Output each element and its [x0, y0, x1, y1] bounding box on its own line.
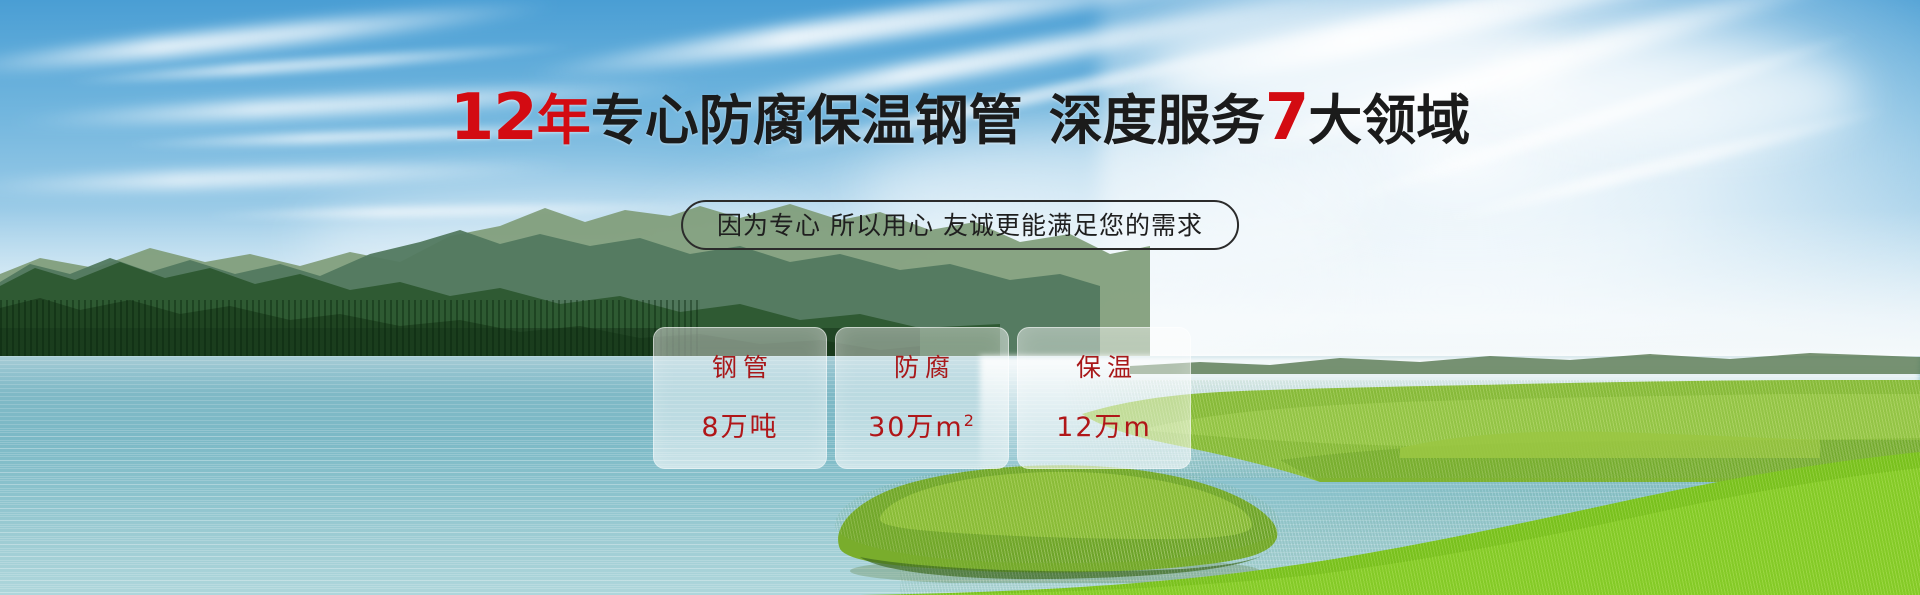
stat-card-value-superscript: 2 — [964, 411, 976, 430]
stat-card-label: 保温 — [1070, 355, 1138, 380]
stat-card-value-text: 12万m — [1056, 412, 1152, 443]
stat-card-value: 8万吨 — [701, 414, 778, 441]
stat-card-label: 防腐 — [888, 355, 956, 380]
stat-card-group: 钢管 8万吨 防腐 30万m2 保温 12万m — [653, 327, 1191, 469]
headline-sectors-number: 7 — [1265, 81, 1309, 155]
headline-focus-text: 专心防腐保温钢管 — [591, 89, 1023, 152]
stat-card-value: 12万m — [1056, 414, 1152, 441]
stat-card-value: 30万m2 — [868, 414, 976, 441]
page-title: 12年专心防腐保温钢管深度服务7大领域 — [0, 86, 1920, 150]
far-shoreline — [1130, 348, 1920, 374]
headline-years-unit: 年 — [537, 89, 591, 152]
stat-card-label: 钢管 — [706, 355, 774, 380]
headline-sectors-text: 大领域 — [1308, 89, 1470, 152]
stat-card-value-text: 30万m — [868, 412, 964, 443]
stat-card-steel-pipe[interactable]: 钢管 8万吨 — [653, 327, 827, 469]
headline-service-text: 深度服务 — [1049, 89, 1265, 152]
promo-banner: 12年专心防腐保温钢管深度服务7大领域 因为专心 所以用心 友诚更能满足您的需求… — [0, 0, 1920, 595]
headline-years-number: 12 — [450, 81, 537, 155]
stat-card-insulation[interactable]: 保温 12万m — [1017, 327, 1191, 469]
subtitle-text: 因为专心 所以用心 友诚更能满足您的需求 — [717, 213, 1203, 238]
subtitle-pill: 因为专心 所以用心 友诚更能满足您的需求 — [681, 200, 1239, 250]
stat-card-anticorrosion[interactable]: 防腐 30万m2 — [835, 327, 1009, 469]
stat-card-value-text: 8万吨 — [701, 412, 778, 443]
conifer-texture — [0, 300, 700, 362]
